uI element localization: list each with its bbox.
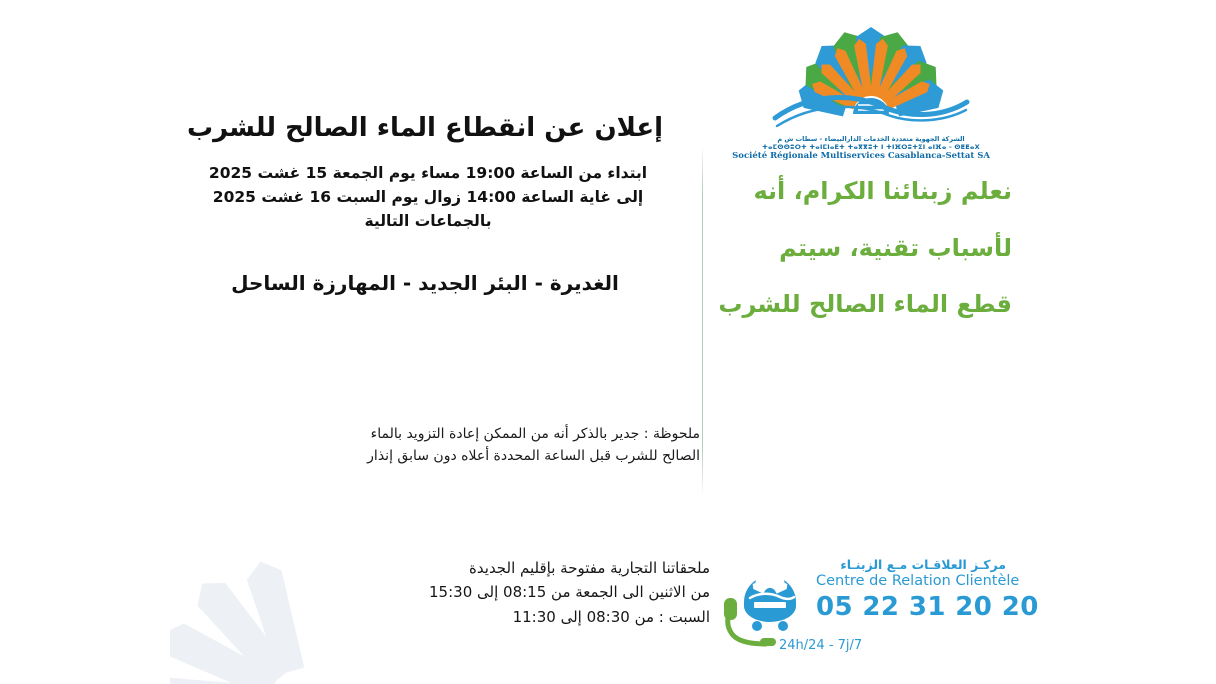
affected-zones: الغديرة - البئر الجديد - المهارزة الساحل: [150, 269, 700, 297]
agency-hours-line-1: ملحقاتنا التجارية مفتوحة بإقليم الجديدة: [290, 556, 710, 580]
company-logo-block: الشركة الجهوية متعددة الخدمات الدارالبيض…: [752, 22, 990, 172]
note-line-1: ملحوظة : جدير بالذكر أنه من الممكن إعادة…: [262, 424, 700, 446]
green-message-line-3: قطع الماء الصالح للشرب: [712, 291, 1012, 319]
green-message-column: نعلم زبنائنا الكرام، أنه لأسباب تقنية، س…: [706, 178, 1012, 319]
vertical-separator-line: [702, 148, 703, 493]
announcement-page: الشركة الجهوية متعددة الخدمات الدارالبيض…: [0, 0, 1216, 684]
logo-tagline-french: Société Régionale Multiservices Casablan…: [752, 151, 990, 162]
period-line-3: بالجماعات التالية: [156, 209, 700, 233]
announcement-note: ملحوظة : جدير بالذكر أنه من الممكن إعادة…: [262, 424, 700, 467]
period-line-2: إلى غاية الساعة 14:00 زوال يوم السبت 16 …: [156, 185, 700, 209]
green-message-line-1: نعلم زبنائنا الكرام، أنه: [712, 178, 1012, 206]
call-centre-availability: 24h/24 - 7j/7: [779, 638, 862, 653]
call-centre-text: مركـز العلاقـات مـع الزبنـاء Centre de R…: [816, 558, 1006, 623]
srm-logo-icon: [771, 22, 971, 134]
agency-hours-line-2: من الاثنين الى الجمعة من 08:15 إلى 15:30: [290, 580, 710, 604]
agency-hours-block: ملحقاتنا التجارية مفتوحة بإقليم الجديدة …: [290, 556, 710, 629]
period-line-1: ابتداء من الساعة 19:00 مساء يوم الجمعة 1…: [156, 161, 700, 185]
note-line-2: الصالح للشرب قبل الساعة المحددة أعلاه دو…: [262, 446, 700, 468]
agency-hours-line-3: السبت : من 08:30 إلى 11:30: [290, 605, 710, 629]
call-centre-phone-number[interactable]: 05 22 31 20 20: [816, 593, 1006, 623]
logo-tagline-arabic: الشركة الجهوية متعددة الخدمات الدارالبيض…: [752, 135, 990, 143]
announcement-column: إعلان عن انقطاع الماء الصالح للشرب ابتدا…: [150, 112, 700, 297]
green-message-line-2: لأسباب تقنية، سيتم: [712, 235, 1012, 263]
call-centre-title-french: Centre de Relation Clientèle: [816, 573, 1006, 590]
announcement-period: ابتداء من الساعة 19:00 مساء يوم الجمعة 1…: [150, 161, 700, 233]
call-centre-block: مركـز العلاقـات مـع الزبنـاء Centre de R…: [724, 552, 1004, 662]
call-centre-title-arabic: مركـز العلاقـات مـع الزبنـاء: [816, 558, 1006, 572]
announcement-title: إعلان عن انقطاع الماء الصالح للشرب: [150, 112, 700, 145]
customer-support-headset-icon: [724, 554, 816, 650]
